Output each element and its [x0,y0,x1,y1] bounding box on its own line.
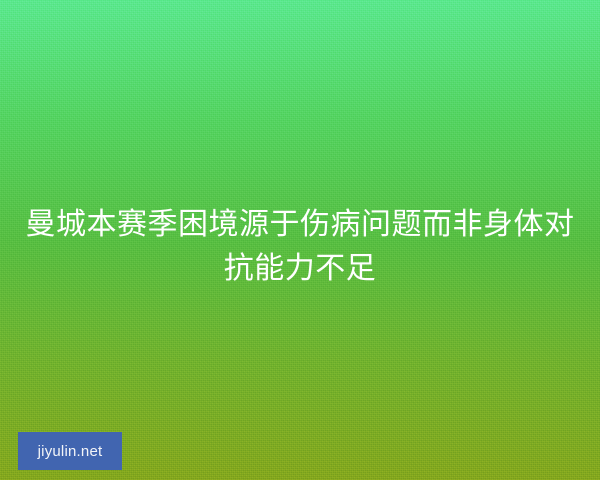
watermark-label: jiyulin.net [38,444,103,459]
poster-canvas: 曼城本赛季困境源于伤病问题而非身体对抗能力不足 jiyulin.net [0,0,600,480]
watermark-badge: jiyulin.net [18,432,122,470]
headline-text: 曼城本赛季困境源于伤病问题而非身体对抗能力不足 [0,203,600,291]
